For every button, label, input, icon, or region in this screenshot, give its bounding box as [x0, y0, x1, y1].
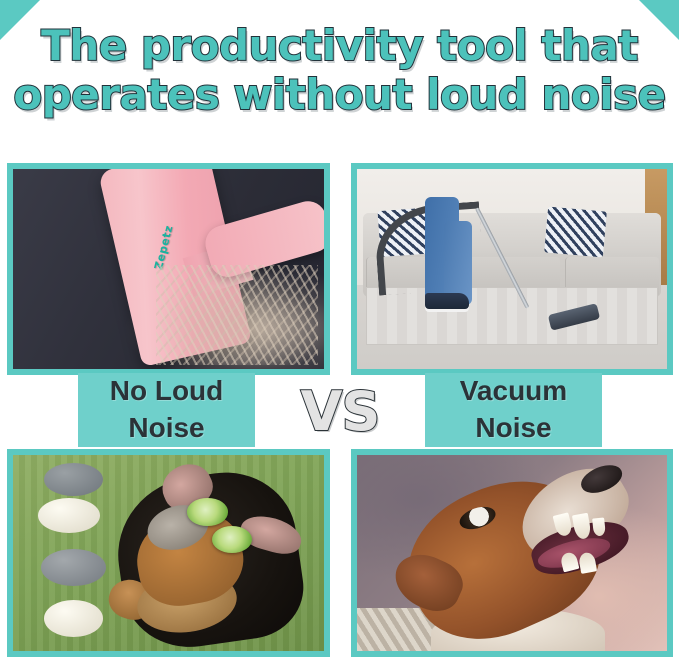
cucumber-slice-icon: [212, 526, 252, 553]
photo-pet-hair-remover: Zepetz: [13, 169, 324, 369]
label-band-no-loud-noise: No Loud Noise: [78, 373, 255, 447]
photo-frame-barking-dog: [351, 449, 673, 657]
person-sneaker: [425, 293, 468, 309]
spa-stone: [44, 600, 103, 637]
dog-tooth: [592, 517, 606, 536]
spa-stone: [44, 463, 103, 496]
page-title: The productivity tool that operates with…: [0, 22, 679, 119]
infographic-canvas: The productivity tool that operates with…: [0, 0, 679, 657]
label-left-line-2: Noise: [128, 410, 204, 447]
photo-barking-terrier: [357, 455, 667, 651]
photo-frame-vacuum-noise-scene: [351, 163, 673, 375]
headline-line-2: operates without loud noise: [0, 71, 679, 120]
label-right-line-1: Vacuum: [460, 373, 567, 410]
photo-frame-no-loud-noise-product: Zepetz: [7, 163, 330, 375]
spa-stone: [38, 498, 100, 533]
photo-person-vacuuming: [357, 169, 667, 369]
carpet-rug: [366, 287, 657, 345]
pet-fur-texture: [156, 265, 318, 365]
label-band-vacuum-noise: Vacuum Noise: [425, 373, 602, 447]
label-left-line-1: No Loud: [110, 373, 224, 410]
patterned-pillow: [544, 207, 607, 258]
label-right-line-2: Noise: [475, 410, 551, 447]
photo-relaxed-dog-spa: [13, 455, 324, 651]
photo-frame-calm-dog: [7, 449, 330, 657]
vs-badge: VS: [286, 375, 394, 447]
spa-stone: [41, 549, 106, 586]
headline-line-1: The productivity tool that: [41, 21, 638, 70]
cucumber-slice-icon: [187, 498, 227, 525]
